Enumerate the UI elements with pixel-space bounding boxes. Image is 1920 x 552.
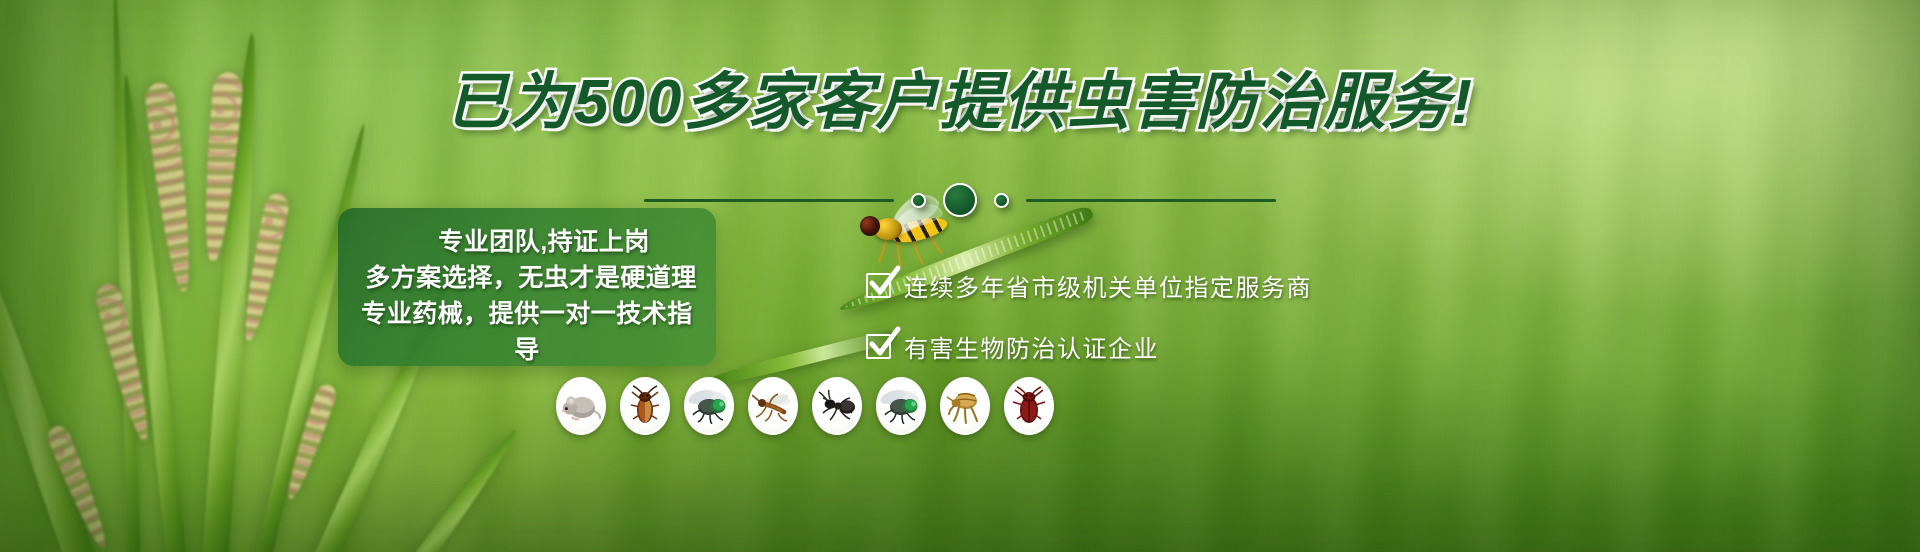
divider-dot-large [943,183,977,217]
panel-line-2: 多方案选择，无虫才是硬道理 [356,258,698,294]
selling-points-panel: 专业团队,持证上岗 多方案选择，无虫才是硬道理 专业药械，提供一对一技术指导 [338,208,716,366]
panel-line-1: 专业团队,持证上岗 [356,222,698,258]
checkbox-checked-icon [866,273,891,298]
decorative-divider [0,183,1920,217]
cockroach-icon [620,377,670,435]
pest-types-strip [556,377,1054,435]
checkbox-checked-icon [866,334,891,359]
mouse-icon [556,377,606,435]
divider-dot-small-left [911,193,926,208]
checklist-item-label: 有害生物防治认证企业 [904,329,1159,364]
mosquito-icon [748,377,798,435]
bedbug-icon [1004,377,1054,435]
divider-dot-small-right [994,193,1009,208]
blowfly-icon [876,377,926,435]
fly-icon [684,377,734,435]
flea-icon [940,377,990,435]
divider-line-left [644,199,894,202]
divider-line-right [1026,199,1276,202]
checklist-item: 有害生物防治认证企业 [866,329,1312,364]
checklist-item: 连续多年省市级机关单位指定服务商 [866,268,1312,303]
headline-container: 已为500多家客户提供虫害防治服务! [0,72,1920,134]
checklist-item-label: 连续多年省市级机关单位指定服务商 [904,268,1312,303]
panel-line-3: 专业药械，提供一对一技术指导 [356,294,698,366]
ant-icon [812,377,862,435]
pest-control-banner: 已为500多家客户提供虫害防治服务! 专业团队,持证上岗 多方案选择，无虫才是硬… [0,0,1920,552]
credentials-checklist: 连续多年省市级机关单位指定服务商 有害生物防治认证企业 [866,268,1312,390]
banner-headline: 已为500多家客户提供虫害防治服务! [446,72,1474,134]
